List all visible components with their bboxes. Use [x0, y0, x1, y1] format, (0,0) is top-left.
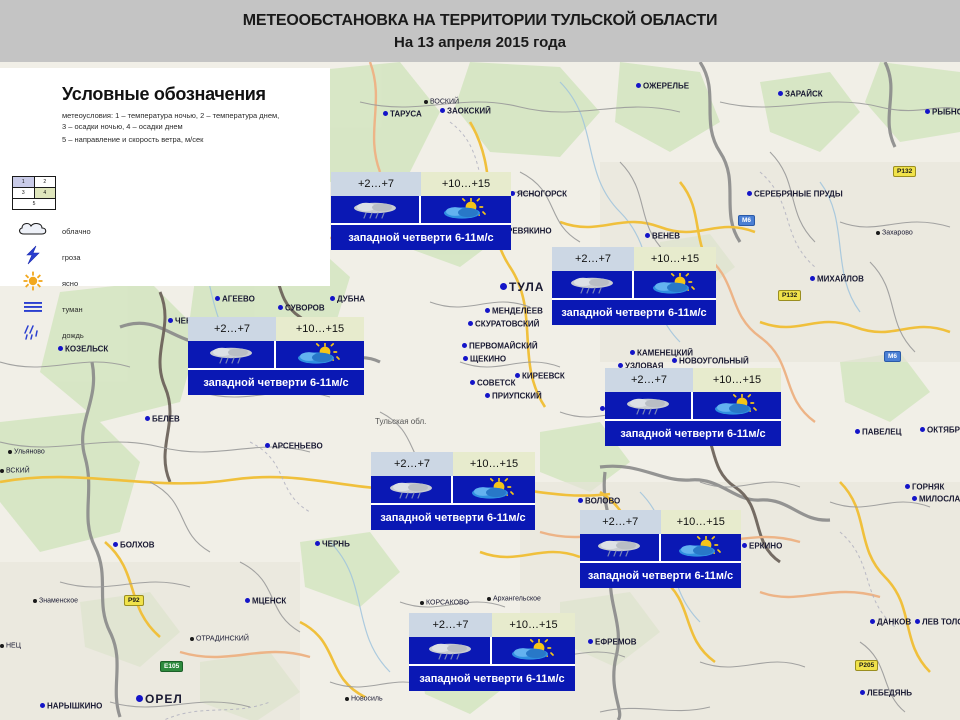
wind-row: западной четверти 6-11м/с	[605, 419, 781, 446]
city-marker-dot	[345, 697, 349, 701]
sun-cloud-icon	[670, 536, 732, 560]
map-city-label: МИЛОСЛАВСКОЕ	[912, 490, 960, 508]
temp-night-cell: +2…+7	[552, 247, 634, 271]
city-marker-dot	[315, 541, 320, 546]
city-marker-dot	[778, 91, 783, 96]
city-marker-dot	[463, 356, 468, 361]
city-name: ЛЕВ ТОЛСТОЙ	[922, 617, 960, 626]
legend-cell-5: 5	[13, 199, 56, 210]
city-marker-dot	[905, 484, 910, 489]
weather-callout[interactable]: +2…+7+10…+15 западной четверти 6-11м/с	[580, 510, 741, 588]
city-name: ЛЕБЕДЯНЬ	[867, 688, 912, 697]
city-marker-dot	[113, 542, 118, 547]
precip-day-cell	[421, 196, 511, 223]
precip-day-cell	[693, 392, 781, 419]
map-city-label: ДУБНА	[330, 290, 365, 308]
map-city-label: АРСЕНЬЕВО	[265, 437, 323, 455]
temperature-row: +2…+7+10…+15	[605, 368, 781, 392]
map-city-label: Ульяново	[8, 443, 45, 461]
city-name: ПАВЕЛЕЦ	[862, 427, 901, 436]
map-city-label: ЛЕВ ТОЛСТОЙ	[915, 613, 960, 631]
temp-day-cell: +10…+15	[492, 613, 575, 637]
city-marker-dot	[383, 111, 388, 116]
legend-item-label: дождь	[62, 331, 84, 340]
map-city-label: ЩЕКИНО	[463, 350, 506, 368]
city-marker-dot	[485, 393, 490, 398]
city-marker-dot	[742, 543, 747, 548]
city-marker-dot	[500, 283, 507, 290]
map-city-label: ОТРАДИНСКИЙ	[190, 630, 249, 648]
city-name: ЯСНОГОРСК	[517, 189, 567, 198]
temp-night-cell: +2…+7	[409, 613, 492, 637]
map-city-label: СКУРАТОВСКИЙ	[468, 315, 539, 333]
city-name: Захарово	[882, 229, 913, 236]
city-marker-dot	[245, 598, 250, 603]
city-name: РЫБНОЕ	[932, 107, 960, 116]
map-city-label: МЦЕНСК	[245, 592, 286, 610]
city-marker-dot	[578, 498, 583, 503]
route-shield: E105	[160, 661, 183, 672]
map-city-label: ОКТЯБРЬСКИЙ	[920, 421, 960, 439]
precip-night-cell	[409, 637, 492, 664]
temp-day-cell: +10…+15	[693, 368, 781, 392]
legend-item-clear: ясно	[10, 270, 310, 296]
temperature-row: +2…+7+10…+15	[331, 172, 511, 196]
sun-cloud-icon	[463, 478, 525, 502]
temp-night-cell: +2…+7	[605, 368, 693, 392]
city-marker-dot	[424, 100, 428, 104]
temperature-row: +2…+7+10…+15	[580, 510, 741, 534]
map-city-label: КИРЕЕВСК	[515, 367, 565, 385]
map-city-label: Архангельское	[487, 590, 541, 608]
city-marker-dot	[330, 296, 335, 301]
city-name: ОРЕЛ	[145, 692, 183, 706]
lightning-icon	[10, 245, 56, 270]
city-marker-dot	[420, 601, 424, 605]
city-marker-dot	[630, 350, 635, 355]
legend-item-label: туман	[62, 305, 83, 314]
city-name: СКУРАТОВСКИЙ	[475, 319, 539, 328]
rain-icon	[10, 323, 56, 348]
city-marker-dot	[645, 233, 650, 238]
city-name: КИРЕЕВСК	[522, 371, 565, 380]
route-shield: P92	[124, 595, 144, 606]
city-marker-dot	[33, 599, 37, 603]
map-city-label: ТУЛА	[500, 278, 544, 296]
city-name: ТАРУСА	[390, 109, 422, 118]
city-name: РЕВЯКИНО	[507, 226, 552, 235]
map-city-label: ПРИУПСКИЙ	[485, 387, 542, 405]
city-name: НОВОУГОЛЬНЫЙ	[679, 356, 749, 365]
precipitation-row	[409, 637, 575, 664]
weather-callout[interactable]: +2…+7+10…+15 западной четверти 6-11м/с	[409, 613, 575, 691]
legend-item-cloudy: облачно	[10, 218, 310, 244]
city-name: БОЛХОВ	[120, 540, 155, 549]
map-city-label: НЕЦ	[0, 637, 21, 655]
city-name: ЧЕРНЬ	[322, 539, 350, 548]
map-city-label: ЯСНОГОРСК	[510, 185, 567, 203]
city-name: ЕРКИНО	[749, 541, 782, 550]
map-city-label: ЧЕРНЬ	[315, 535, 350, 553]
wind-text: западной четверти 6-11м/с	[203, 377, 348, 389]
city-marker-dot	[190, 637, 194, 641]
city-name: СЕРЕБРЯНЫЕ ПРУДЫ	[754, 189, 843, 198]
city-marker-dot	[920, 427, 925, 432]
legend-item-fog: туман	[10, 296, 310, 322]
map-city-label: БЕЛЕВ	[145, 410, 180, 428]
city-name: ОЖЕРЕЛЬЕ	[643, 81, 689, 90]
precipitation-row	[605, 392, 781, 419]
legend-description-2: 3 – осадки ночью, 4 – осадки днем	[62, 122, 322, 133]
city-name: МИХАЙЛОВ	[817, 274, 864, 283]
weather-callout[interactable]: +2…+7+10…+15 западной четверти 6-11м/с	[371, 452, 535, 530]
cloud-icon	[10, 220, 56, 243]
page-header: МЕТЕООБСТАНОВКА НА ТЕРРИТОРИИ ТУЛЬСКОЙ О…	[0, 0, 960, 70]
legend-description-3: 5 – направление и скорость ветра, м/сек	[62, 135, 322, 146]
city-name: Новосиль	[351, 695, 383, 702]
legend-panel: Условные обозначения метеоусловия: 1 – т…	[0, 68, 330, 286]
temp-day-cell: +10…+15	[421, 172, 511, 196]
cloud-rain-icon	[419, 640, 481, 662]
city-marker-dot	[925, 109, 930, 114]
precipitation-row	[371, 476, 535, 503]
city-name: ОКТЯБРЬСКИЙ	[927, 425, 960, 434]
map-city-label: ВСКИЙ	[0, 462, 30, 480]
precip-night-cell	[605, 392, 693, 419]
temp-night-cell: +2…+7	[580, 510, 661, 534]
city-marker-dot	[462, 343, 467, 348]
precipitation-row	[552, 271, 716, 298]
sun-cloud-icon	[503, 639, 565, 663]
legend-item-list: облачно гроза	[10, 218, 310, 348]
legend-item-label: гроза	[62, 253, 81, 262]
weather-callout[interactable]: +2…+7+10…+15 западной четверти 6-11м/с	[605, 368, 781, 446]
cloud-rain-icon	[344, 199, 406, 221]
legend-scheme-table-icon: 1 2 3 4 5	[12, 176, 56, 206]
page-title-line1: МЕТЕООБСТАНОВКА НА ТЕРРИТОРИИ ТУЛЬСКОЙ О…	[0, 10, 960, 32]
precip-night-cell	[371, 476, 453, 503]
city-marker-dot	[40, 703, 45, 708]
city-marker-dot	[870, 619, 875, 624]
wind-text: западной четверти 6-11м/с	[419, 673, 564, 685]
city-marker-dot	[265, 443, 270, 448]
legend-item-label: ясно	[62, 279, 78, 288]
city-marker-dot	[470, 380, 475, 385]
city-name: НЕЦ	[6, 642, 21, 649]
precip-night-cell	[580, 534, 661, 561]
map-city-label: ТАРУСА	[383, 105, 422, 123]
sun-cloud-icon	[644, 273, 706, 297]
precipitation-row	[580, 534, 741, 561]
map-city-label: Новосиль	[345, 690, 383, 708]
city-marker-dot	[876, 231, 880, 235]
legend-item-label: облачно	[62, 227, 91, 236]
legend-description-1: метеоусловия: 1 – температура ночью, 2 –…	[62, 111, 322, 122]
legend-cell-2: 2	[34, 177, 56, 188]
sun-cloud-icon	[435, 198, 497, 222]
wind-row: западной четверти 6-11м/с	[580, 561, 741, 588]
cloud-rain-icon	[561, 274, 623, 296]
map-city-label: ЕРКИНО	[742, 537, 782, 555]
map-city-label: ВОСКИЙ	[424, 93, 459, 111]
precip-day-cell	[492, 637, 575, 664]
wind-row: западной четверти 6-11м/с	[409, 664, 575, 691]
wind-text: западной четверти 6-11м/с	[620, 428, 765, 440]
precip-night-cell	[552, 271, 634, 298]
city-name: ВОЛОВО	[585, 496, 620, 505]
city-name: АРСЕНЬЕВО	[272, 441, 323, 450]
map-city-label: ВОЛОВО	[578, 492, 620, 510]
cloud-rain-icon	[617, 395, 679, 417]
cloud-rain-icon	[588, 537, 650, 559]
city-name: Знаменское	[39, 597, 78, 604]
legend-cell-4: 4	[34, 188, 56, 199]
map-city-label: ВЕНЕВ	[645, 227, 680, 245]
city-name: МЕНДЕЛЕЕВ	[492, 306, 543, 315]
map-city-label: Знаменское	[33, 592, 78, 610]
city-name: БЕЛЕВ	[152, 414, 180, 423]
city-name: МИЛОСЛАВСКОЕ	[919, 494, 960, 503]
wind-row: западной четверти 6-11м/с	[371, 503, 535, 530]
city-marker-dot	[588, 639, 593, 644]
city-marker-dot	[515, 373, 520, 378]
legend-item-thunderstorm: гроза	[10, 244, 310, 270]
map-city-label: ЕФРЕМОВ	[588, 633, 637, 651]
precipitation-row	[331, 196, 511, 223]
map-city-label: БОЛХОВ	[113, 536, 155, 554]
wind-row: западной четверти 6-11м/с	[188, 368, 364, 395]
temperature-row: +2…+7+10…+15	[552, 247, 716, 271]
page-title-line2: На 13 апреля 2015 года	[0, 32, 960, 54]
city-marker-dot	[485, 308, 490, 313]
city-name: ЕФРЕМОВ	[595, 637, 637, 646]
map-city-label: ПАВЕЛЕЦ	[855, 423, 901, 441]
legend-item-rain: дождь	[10, 322, 310, 348]
city-name: КОРСАКОВО	[426, 599, 469, 606]
city-marker-dot	[636, 83, 641, 88]
route-shield: M6	[884, 351, 901, 362]
city-name: ВОСКИЙ	[430, 98, 459, 105]
sun-icon	[10, 271, 56, 296]
city-marker-dot	[468, 321, 473, 326]
city-name: ВСКИЙ	[6, 467, 30, 474]
map-city-label: МИХАЙЛОВ	[810, 270, 864, 288]
city-name: ДАНКОВ	[877, 617, 911, 626]
precip-day-cell	[661, 534, 742, 561]
map-city-label: РЫБНОЕ	[925, 103, 960, 121]
wind-text: западной четверти 6-11м/с	[561, 307, 706, 319]
route-shield: P132	[778, 290, 801, 301]
city-marker-dot	[487, 597, 491, 601]
wind-text: западной четверти 6-11м/с	[588, 570, 733, 582]
wind-text: западной четверти 6-11м/с	[348, 232, 493, 244]
city-marker-dot	[0, 469, 4, 473]
temp-night-cell: +2…+7	[371, 452, 453, 476]
map-city-label: ДАНКОВ	[870, 613, 911, 631]
weather-callout[interactable]: +2…+7+10…+15 западной четверти 6-11м/с	[331, 172, 511, 250]
weather-callout[interactable]: +2…+7+10…+15 западной четверти 6-11м/с	[552, 247, 716, 325]
city-name: ДУБНА	[337, 294, 365, 303]
oblast-label: Тульская обл.	[375, 417, 426, 426]
map-city-label: ЗАРАЙСК	[778, 85, 823, 103]
temp-day-cell: +10…+15	[661, 510, 742, 534]
city-name: ПЕРВОМАЙСКИЙ	[469, 341, 538, 350]
city-marker-dot	[145, 416, 150, 421]
city-name: ВЕНЕВ	[652, 231, 680, 240]
precip-night-cell	[331, 196, 421, 223]
city-name: НАРЫШКИНО	[47, 701, 102, 710]
city-name: Архангельское	[493, 595, 541, 602]
precip-day-cell	[453, 476, 535, 503]
map-city-label: НАРЫШКИНО	[40, 697, 102, 715]
map-city-label: ОРЕЛ	[136, 690, 183, 708]
route-shield: P132	[893, 166, 916, 177]
city-marker-dot	[747, 191, 752, 196]
city-marker-dot	[912, 496, 917, 501]
city-name: ЗАРАЙСК	[785, 89, 823, 98]
city-marker-dot	[810, 276, 815, 281]
legend-cell-3: 3	[13, 188, 35, 199]
city-name: ПРИУПСКИЙ	[492, 391, 542, 400]
city-marker-dot	[0, 644, 4, 648]
city-name: МЦЕНСК	[252, 596, 286, 605]
city-name: Ульяново	[14, 448, 45, 455]
fog-icon	[10, 298, 56, 321]
city-marker-dot	[672, 358, 677, 363]
wind-text: западной четверти 6-11м/с	[380, 512, 525, 524]
city-name: СОВЕТСК	[477, 378, 515, 387]
legend-cell-1: 1	[13, 177, 35, 188]
temp-night-cell: +2…+7	[331, 172, 421, 196]
temp-day-cell: +10…+15	[453, 452, 535, 476]
precip-day-cell	[634, 271, 716, 298]
city-marker-dot	[8, 450, 12, 454]
map-city-label: СЕРЕБРЯНЫЕ ПРУДЫ	[747, 185, 843, 203]
sun-cloud-icon	[706, 394, 768, 418]
legend-title: Условные обозначения	[62, 84, 322, 105]
city-marker-dot	[860, 690, 865, 695]
wind-row: западной четверти 6-11м/с	[552, 298, 716, 325]
city-marker-dot	[915, 619, 920, 624]
wind-row: западной четверти 6-11м/с	[331, 223, 511, 250]
map-city-label: Захарово	[876, 224, 913, 242]
city-marker-dot	[855, 429, 860, 434]
cloud-rain-icon	[380, 479, 442, 501]
temp-day-cell: +10…+15	[634, 247, 716, 271]
map-city-label: КОРСАКОВО	[420, 594, 469, 612]
route-shield: M6	[738, 215, 755, 226]
city-marker-dot	[136, 695, 143, 702]
city-name: ЩЕКИНО	[470, 354, 506, 363]
map-city-label: ЛЕБЕДЯНЬ	[860, 684, 912, 702]
city-name: ОТРАДИНСКИЙ	[196, 635, 249, 642]
temperature-row: +2…+7+10…+15	[409, 613, 575, 637]
map-city-label: ОЖЕРЕЛЬЕ	[636, 77, 689, 95]
city-name: ТУЛА	[509, 280, 544, 294]
route-shield: P205	[855, 660, 878, 671]
temperature-row: +2…+7+10…+15	[371, 452, 535, 476]
